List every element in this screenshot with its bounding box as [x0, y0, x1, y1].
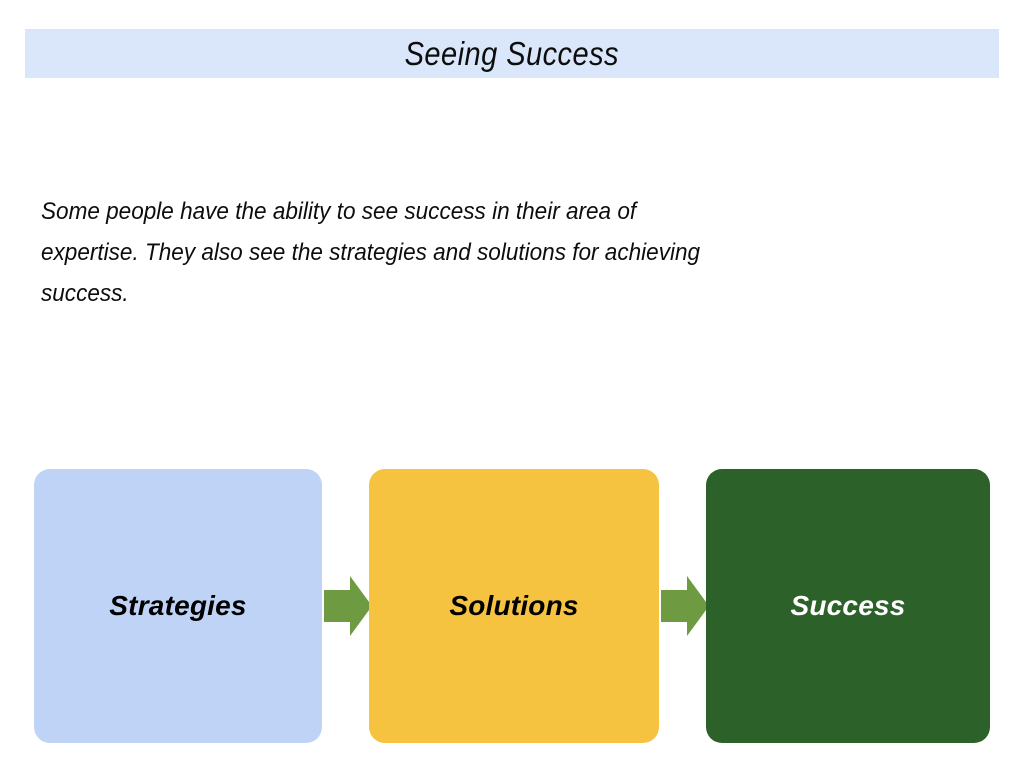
flow-step-strategies[interactable]: Strategies [34, 469, 322, 743]
slide-body-text: Some people have the ability to see succ… [41, 191, 986, 314]
flow-step-label: Strategies [109, 590, 246, 622]
flow-step-label: Success [790, 590, 905, 622]
slide-canvas: Seeing Success Some people have the abil… [0, 0, 1024, 768]
right-arrow-icon [661, 576, 709, 636]
right-arrow-icon [324, 576, 372, 636]
slide-title: Seeing Success [405, 35, 619, 73]
process-flow-diagram: Strategies Solutions Success [0, 469, 1024, 744]
flow-step-label: Solutions [449, 590, 578, 622]
slide-title-banner: Seeing Success [25, 29, 999, 78]
body-line-2: expertise. They also see the strategies … [41, 232, 986, 273]
body-line-1: Some people have the ability to see succ… [41, 191, 986, 232]
flow-step-success[interactable]: Success [706, 469, 990, 743]
body-line-3: success. [41, 273, 986, 314]
flow-step-solutions[interactable]: Solutions [369, 469, 659, 743]
